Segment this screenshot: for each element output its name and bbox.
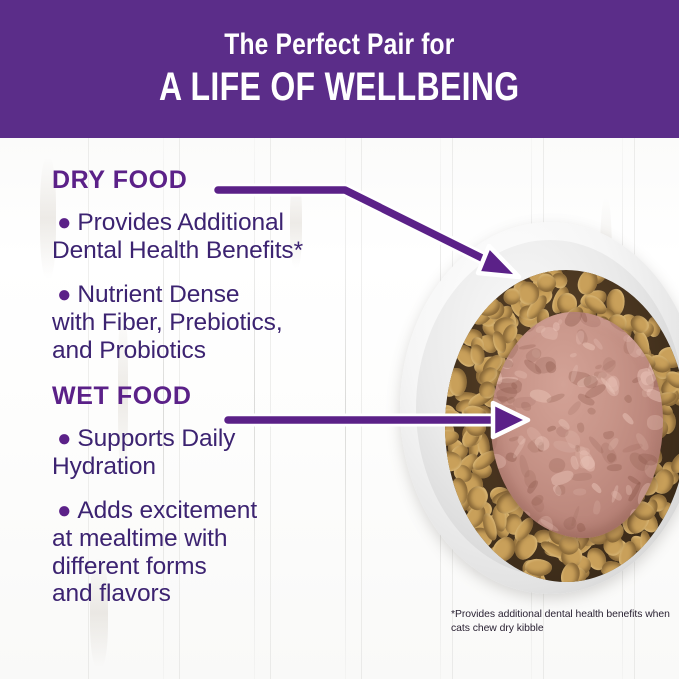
pate-texture [624,394,634,405]
pate-texture [647,415,663,431]
pate-texture [575,522,586,533]
header-title-line1: The Perfect Pair for [224,29,454,61]
pate-texture [571,471,593,482]
bullet-text: Nutrient Dense [77,281,239,308]
pate-texture [491,435,498,451]
pate-texture [591,482,604,494]
bullet-text: with Fiber, Prebiotics, [52,309,283,336]
pate-texture [592,500,601,515]
copy-column: DRY FOOD ●Provides Additional Dental Hea… [52,168,397,625]
pate-texture [567,400,583,417]
bullet-dot-icon: ● [52,425,77,452]
bullet-text: Adds excitement [77,497,257,524]
list-item: ●Provides Additional Dental Health Benef… [52,209,397,264]
wet-food-bullets: ●Supports Daily Hydration ●Adds exciteme… [52,425,397,608]
bullet-dot-icon: ● [52,497,77,524]
bullet-text: different forms [52,553,207,580]
footnote-text: *Provides additional dental health benef… [451,608,679,637]
list-item: ●Nutrient Dense with Fiber, Prebiotics, … [52,281,397,364]
dry-food-bullets: ●Provides Additional Dental Health Benef… [52,209,397,364]
pate-texture [570,352,578,358]
dry-food-heading: DRY FOOD [52,168,397,193]
wet-pate-portion [491,312,663,538]
pate-texture [573,488,587,495]
bowl-well [445,270,679,582]
bullet-text: and flavors [52,580,171,607]
cat-food-bowl-photo [400,222,679,594]
pate-texture [495,513,503,528]
bullet-text: and Probiotics [52,337,206,364]
header-title-line2: A LIFE OF WELLBEING [159,65,519,109]
bullet-text: Dental Health Benefits* [52,237,303,264]
bullet-text: at mealtime with [52,525,227,552]
bullet-text: Supports Daily [77,425,235,452]
pate-texture [517,454,531,479]
bullet-text: Provides Additional [77,209,283,236]
wet-food-heading: WET FOOD [52,384,397,409]
wet-food-block: WET FOOD ●Supports Daily Hydration ●Adds… [52,384,397,608]
pate-texture [586,406,597,417]
bowl-inner-rim [416,240,679,576]
kibble-piece [524,558,552,576]
pate-texture [507,509,530,518]
list-item: ●Supports Daily Hydration [52,425,397,480]
bullet-dot-icon: ● [52,281,77,308]
pate-texture [622,335,632,343]
pate-texture [606,464,621,471]
pate-texture [521,402,531,411]
pate-texture [620,412,635,427]
product-infographic: The Perfect Pair for A LIFE OF WELLBEING [0,0,679,679]
bullet-text: Hydration [52,453,156,480]
pate-texture [602,312,609,320]
list-item: ●Adds excitement at mealtime with differ… [52,497,397,607]
pate-texture [576,422,586,433]
pate-texture [555,485,565,495]
bowl-outer-rim [400,222,679,594]
bullet-dot-icon: ● [52,209,77,236]
header-banner: The Perfect Pair for A LIFE OF WELLBEING [0,0,679,138]
